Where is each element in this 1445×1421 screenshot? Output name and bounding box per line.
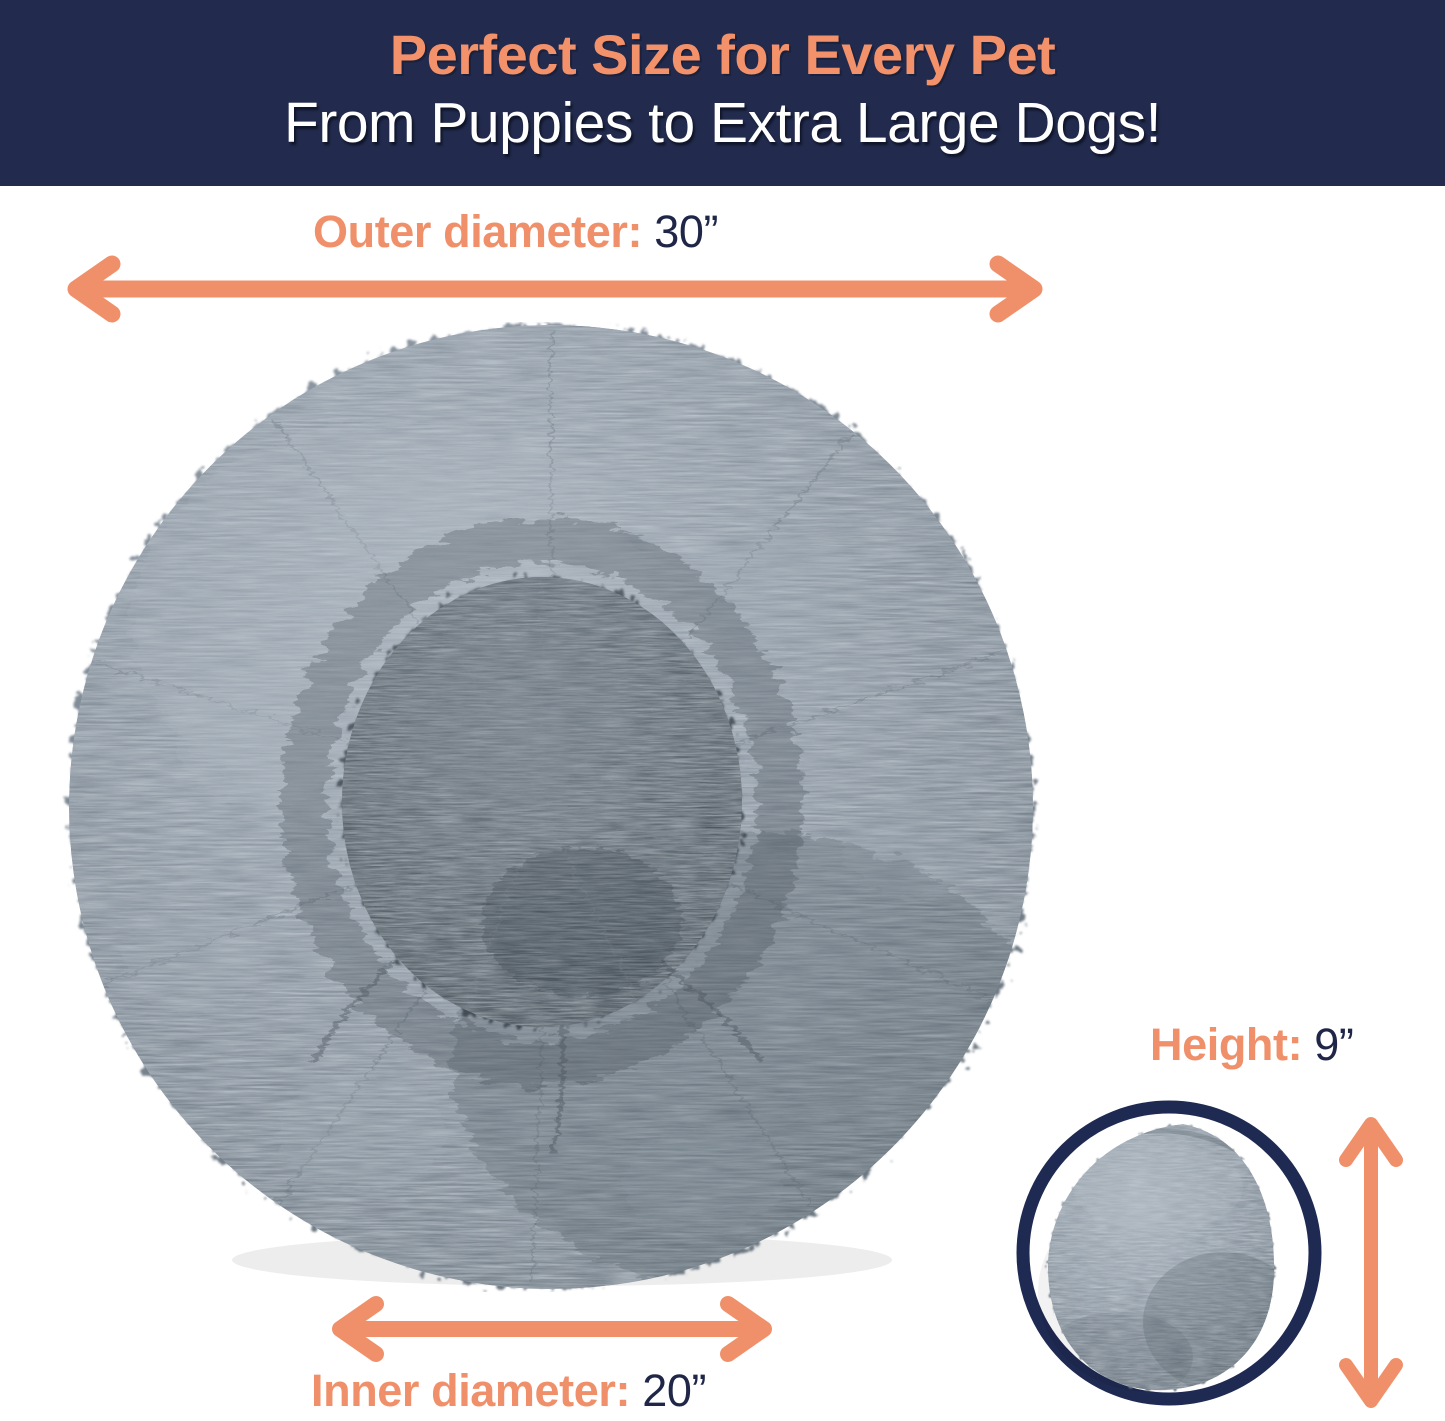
height-value: 9”: [1314, 1019, 1353, 1070]
inner-diameter-label-text: Inner diameter:: [311, 1365, 630, 1416]
height-arrow-icon: [1332, 1110, 1410, 1415]
inner-diameter-value: 20”: [642, 1365, 706, 1416]
outer-diameter-value: 30”: [654, 206, 718, 257]
height-arrow-wrapper: [1332, 1110, 1410, 1415]
outer-diameter-arrow-icon: [60, 258, 1050, 320]
page-subtitle: From Puppies to Extra Large Dogs!: [0, 90, 1445, 156]
inner-diameter-label: Inner diameter: 20”: [311, 1368, 706, 1413]
page-title: Perfect Size for Every Pet: [0, 22, 1445, 87]
outer-diameter-label-text: Outer diameter:: [313, 206, 642, 257]
inner-diameter-arrow-icon: [322, 1298, 782, 1360]
outer-diameter-label: Outer diameter: 30”: [313, 209, 718, 254]
height-label: Height: 9”: [1150, 1022, 1354, 1067]
height-label-text: Height:: [1150, 1019, 1302, 1070]
pet-bed-top-view-image: [62, 322, 1040, 1292]
pet-bed-side-view-inset: [1008, 1092, 1330, 1414]
header-banner: Perfect Size for Every Pet From Puppies …: [0, 0, 1445, 186]
infographic-canvas: Perfect Size for Every Pet From Puppies …: [0, 0, 1445, 1421]
